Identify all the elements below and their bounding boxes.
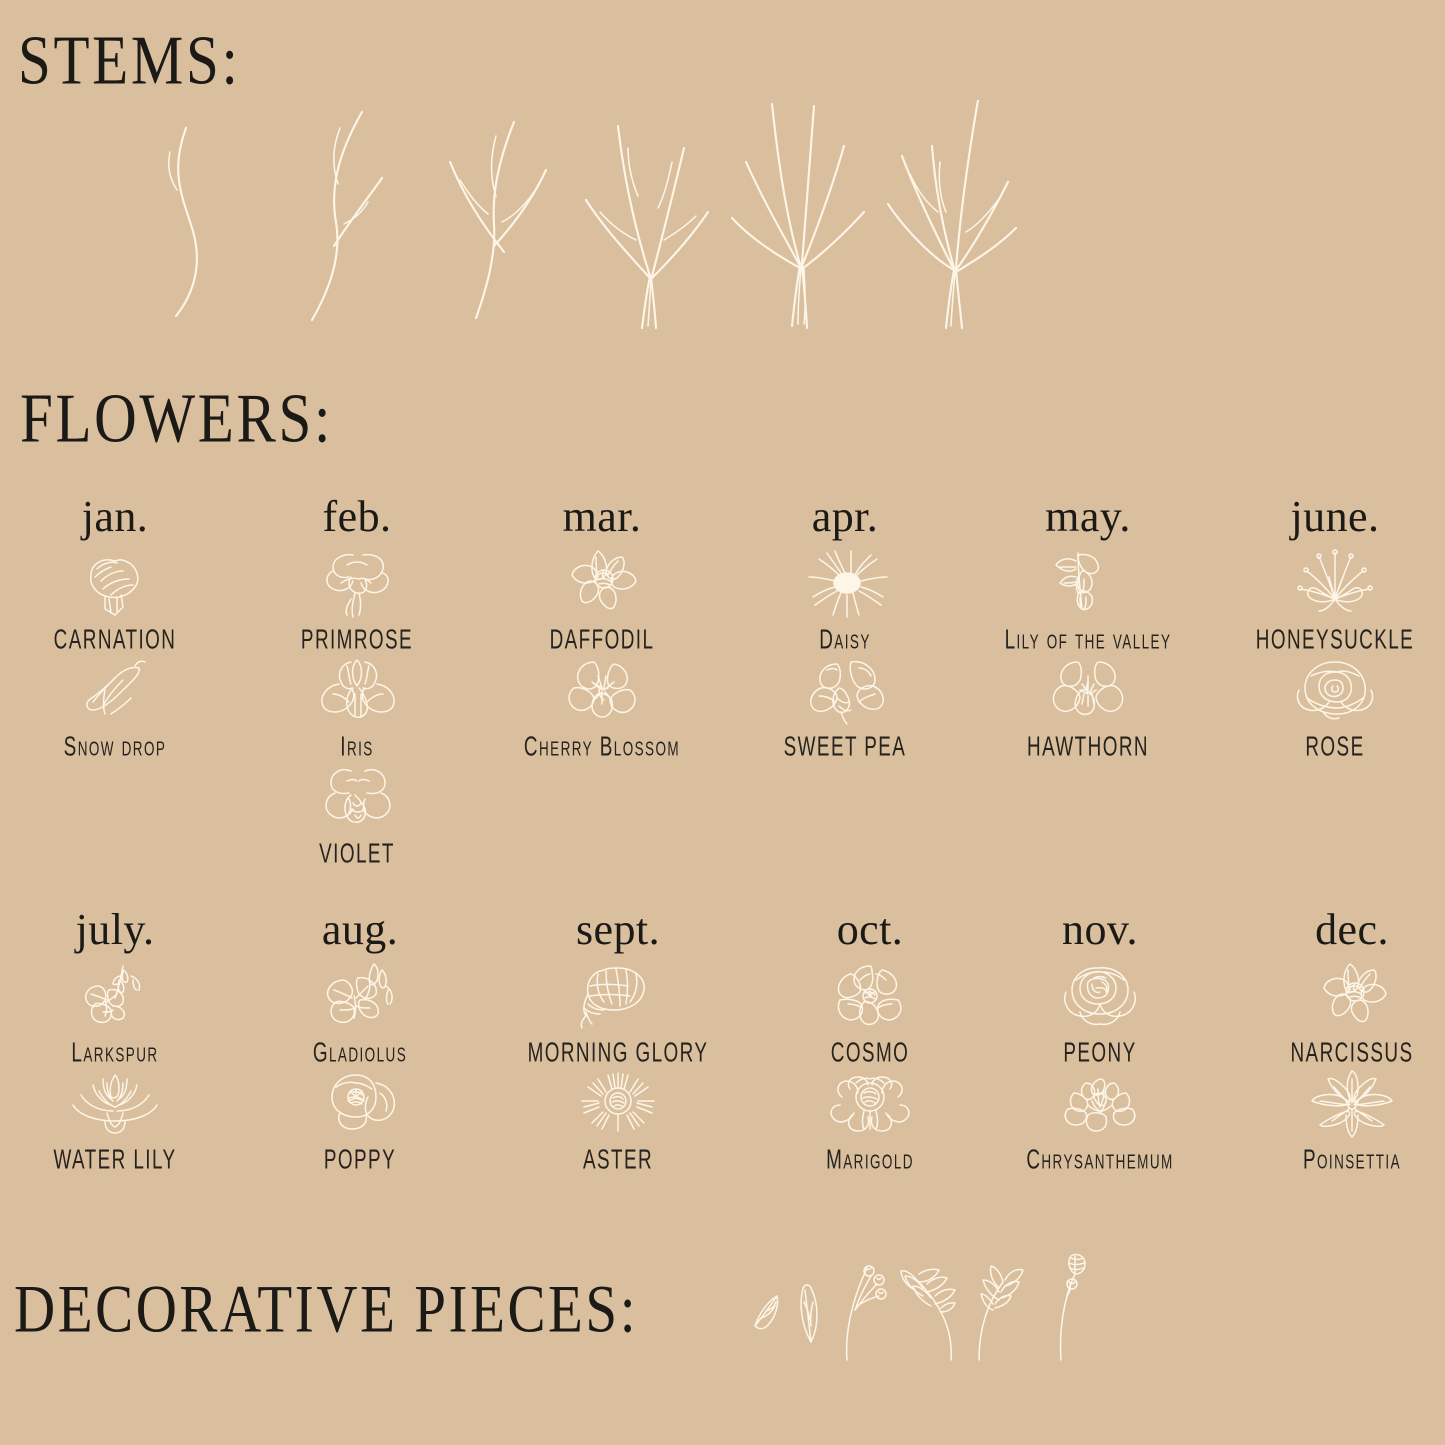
poster-canvas: STEMS: — [0, 0, 1445, 1445]
flower-name-cherry-blossom: Cherry Blossom — [494, 733, 710, 762]
violet-icon — [307, 761, 407, 833]
month-label-oct: oct. — [750, 908, 990, 952]
primrose-icon — [307, 547, 407, 619]
narcissus-icon — [1302, 960, 1402, 1032]
lavender-spike-icon — [1045, 1248, 1095, 1363]
decorative-pieces-section-heading: DECORATIVE PIECES: — [14, 1271, 638, 1348]
stem-branching — [424, 100, 574, 340]
flower-name-poinsettia: Poinsettia — [1244, 1146, 1445, 1175]
flower-entry-rose[interactable]: Rose — [1215, 654, 1445, 755]
flower-entry-larkspur[interactable]: Larkspur — [0, 960, 235, 1061]
flower-entry-narcissus[interactable]: Narcissus — [1232, 960, 1445, 1061]
sweet-pea-icon — [795, 654, 895, 726]
flower-entry-primrose[interactable]: Primrose — [237, 547, 477, 648]
flower-name-sweet-pea: Sweet pea — [737, 733, 953, 762]
flower-name-larkspur: Larkspur — [7, 1039, 223, 1068]
month-column-sept: sept. — [498, 908, 738, 1174]
stem-spray-five — [576, 100, 726, 340]
flower-name-water-lily: Water lily — [7, 1146, 223, 1175]
carnation-icon — [65, 547, 165, 619]
month-label-may: may. — [968, 495, 1208, 539]
flower-entry-lily-of-the-valley[interactable]: Lily of the valley — [968, 547, 1208, 648]
stems-section-heading: STEMS: — [18, 20, 241, 101]
rose-icon — [1285, 654, 1385, 726]
cherry-blossom-icon — [552, 654, 652, 726]
flower-entry-gladiolus[interactable]: Gladiolus — [240, 960, 480, 1061]
berry-sprig-icon — [841, 1248, 889, 1363]
lily-of-the-valley-icon — [1038, 547, 1138, 619]
flower-name-chrysanthemum: Chrysanthemum — [992, 1146, 1208, 1175]
stems-illustration-row — [120, 100, 1040, 340]
flower-name-daffodil: Daffodil — [494, 626, 710, 655]
month-label-nov: nov. — [980, 908, 1220, 952]
marigold-icon — [820, 1067, 920, 1139]
month-column-nov: nov. — [980, 908, 1220, 1174]
stem-single-curved — [120, 100, 270, 340]
flower-name-carnation: Carnation — [7, 626, 223, 655]
flower-name-rose: Rose — [1227, 733, 1443, 762]
flower-name-lily-of-the-valley: Lily of the valley — [980, 626, 1196, 655]
flower-name-morning-glory: Morning glory — [510, 1039, 726, 1068]
long-leaf-icon — [793, 1248, 831, 1363]
flower-entry-cosmo[interactable]: Cosmo — [750, 960, 990, 1061]
flower-name-daisy: Daisy — [737, 626, 953, 655]
flower-name-iris: Iris — [249, 733, 465, 762]
month-column-mar: mar. — [482, 495, 722, 761]
larkspur-icon — [65, 960, 165, 1032]
flower-entry-violet[interactable]: Violet — [237, 761, 477, 862]
flower-entry-poppy[interactable]: Poppy — [240, 1067, 480, 1168]
flowers-section-heading: FLOWERS: — [20, 378, 333, 459]
flower-entry-iris[interactable]: Iris — [237, 654, 477, 755]
cosmo-icon — [820, 960, 920, 1032]
month-column-oct: oct. — [750, 908, 990, 1174]
month-label-jan: jan. — [0, 495, 235, 539]
flower-entry-peony[interactable]: Peony — [980, 960, 1220, 1061]
honeysuckle-icon — [1285, 547, 1385, 619]
stem-bundle-wide — [880, 100, 1030, 340]
flower-entry-poinsettia[interactable]: Poinsettia — [1232, 1067, 1445, 1168]
flower-name-aster: Aster — [510, 1146, 726, 1175]
flower-name-hawthorn: Hawthorn — [980, 733, 1196, 762]
morning-glory-icon — [568, 960, 668, 1032]
flower-entry-daffodil[interactable]: Daffodil — [482, 547, 722, 648]
month-column-apr: apr. — [725, 495, 965, 761]
hawthorn-icon — [1038, 654, 1138, 726]
stem-bundle-tall — [728, 100, 878, 340]
month-label-dec: dec. — [1232, 908, 1445, 952]
poppy-icon — [310, 1067, 410, 1139]
flower-name-violet: Violet — [249, 840, 465, 869]
month-column-aug: aug. — [240, 908, 480, 1174]
flower-name-gladiolus: Gladiolus — [252, 1039, 468, 1068]
month-label-aug: aug. — [240, 908, 480, 952]
month-label-apr: apr. — [725, 495, 965, 539]
month-column-jan: jan. Carnation — [0, 495, 235, 761]
flower-name-narcissus: Narcissus — [1244, 1039, 1445, 1068]
poinsettia-icon — [1302, 1067, 1402, 1139]
chrysanthemum-icon — [1050, 1067, 1150, 1139]
month-column-july: july. — [0, 908, 235, 1174]
snowdrop-icon — [65, 654, 165, 726]
flower-name-cosmo: Cosmo — [762, 1039, 978, 1068]
olive-branch-icon — [895, 1248, 965, 1363]
flower-entry-marigold[interactable]: Marigold — [750, 1067, 990, 1168]
gladiolus-icon — [310, 960, 410, 1032]
flower-name-honeysuckle: Honeysuckle — [1227, 626, 1443, 655]
single-leaf-icon — [745, 1248, 787, 1363]
flower-entry-aster[interactable]: Aster — [498, 1067, 738, 1168]
daffodil-icon — [552, 547, 652, 619]
decorative-pieces-row — [745, 1243, 1140, 1363]
flower-entry-chrysanthemum[interactable]: Chrysanthemum — [980, 1067, 1220, 1168]
aster-icon — [568, 1067, 668, 1139]
leafy-stem-icon — [971, 1248, 1033, 1363]
flower-name-snow-drop: Snow drop — [7, 733, 223, 762]
flower-entry-cherry-blossom[interactable]: Cherry Blossom — [482, 654, 722, 755]
month-label-june: june. — [1215, 495, 1445, 539]
flower-name-marigold: Marigold — [762, 1146, 978, 1175]
flower-entry-sweet-pea[interactable]: Sweet pea — [725, 654, 965, 755]
flower-entry-daisy[interactable]: Daisy — [725, 547, 965, 648]
flower-entry-hawthorn[interactable]: Hawthorn — [968, 654, 1208, 755]
flower-name-primrose: Primrose — [249, 626, 465, 655]
flower-entry-carnation[interactable]: Carnation — [0, 547, 235, 648]
month-label-july: july. — [0, 908, 235, 952]
daisy-icon — [795, 547, 895, 619]
month-label-mar: mar. — [482, 495, 722, 539]
stem-forked — [272, 100, 422, 340]
month-label-sept: sept. — [498, 908, 738, 952]
flower-name-peony: Peony — [992, 1039, 1208, 1068]
flower-entry-honeysuckle[interactable]: Honeysuckle — [1215, 547, 1445, 648]
peony-icon — [1050, 960, 1150, 1032]
month-column-june: june. — [1215, 495, 1445, 761]
water-lily-icon — [65, 1067, 165, 1139]
month-label-feb: feb. — [237, 495, 477, 539]
month-column-may: may. — [968, 495, 1208, 761]
flower-entry-water-lily[interactable]: Water lily — [0, 1067, 235, 1168]
flower-name-poppy: Poppy — [252, 1146, 468, 1175]
month-column-dec: dec. — [1232, 908, 1445, 1174]
flower-entry-snow-drop[interactable]: Snow drop — [0, 654, 235, 755]
flowers-month-grid: jan. Carnation — [0, 495, 1445, 1255]
iris-icon — [307, 654, 407, 726]
month-column-feb: feb. — [237, 495, 477, 868]
flower-entry-morning-glory[interactable]: Morning glory — [498, 960, 738, 1061]
